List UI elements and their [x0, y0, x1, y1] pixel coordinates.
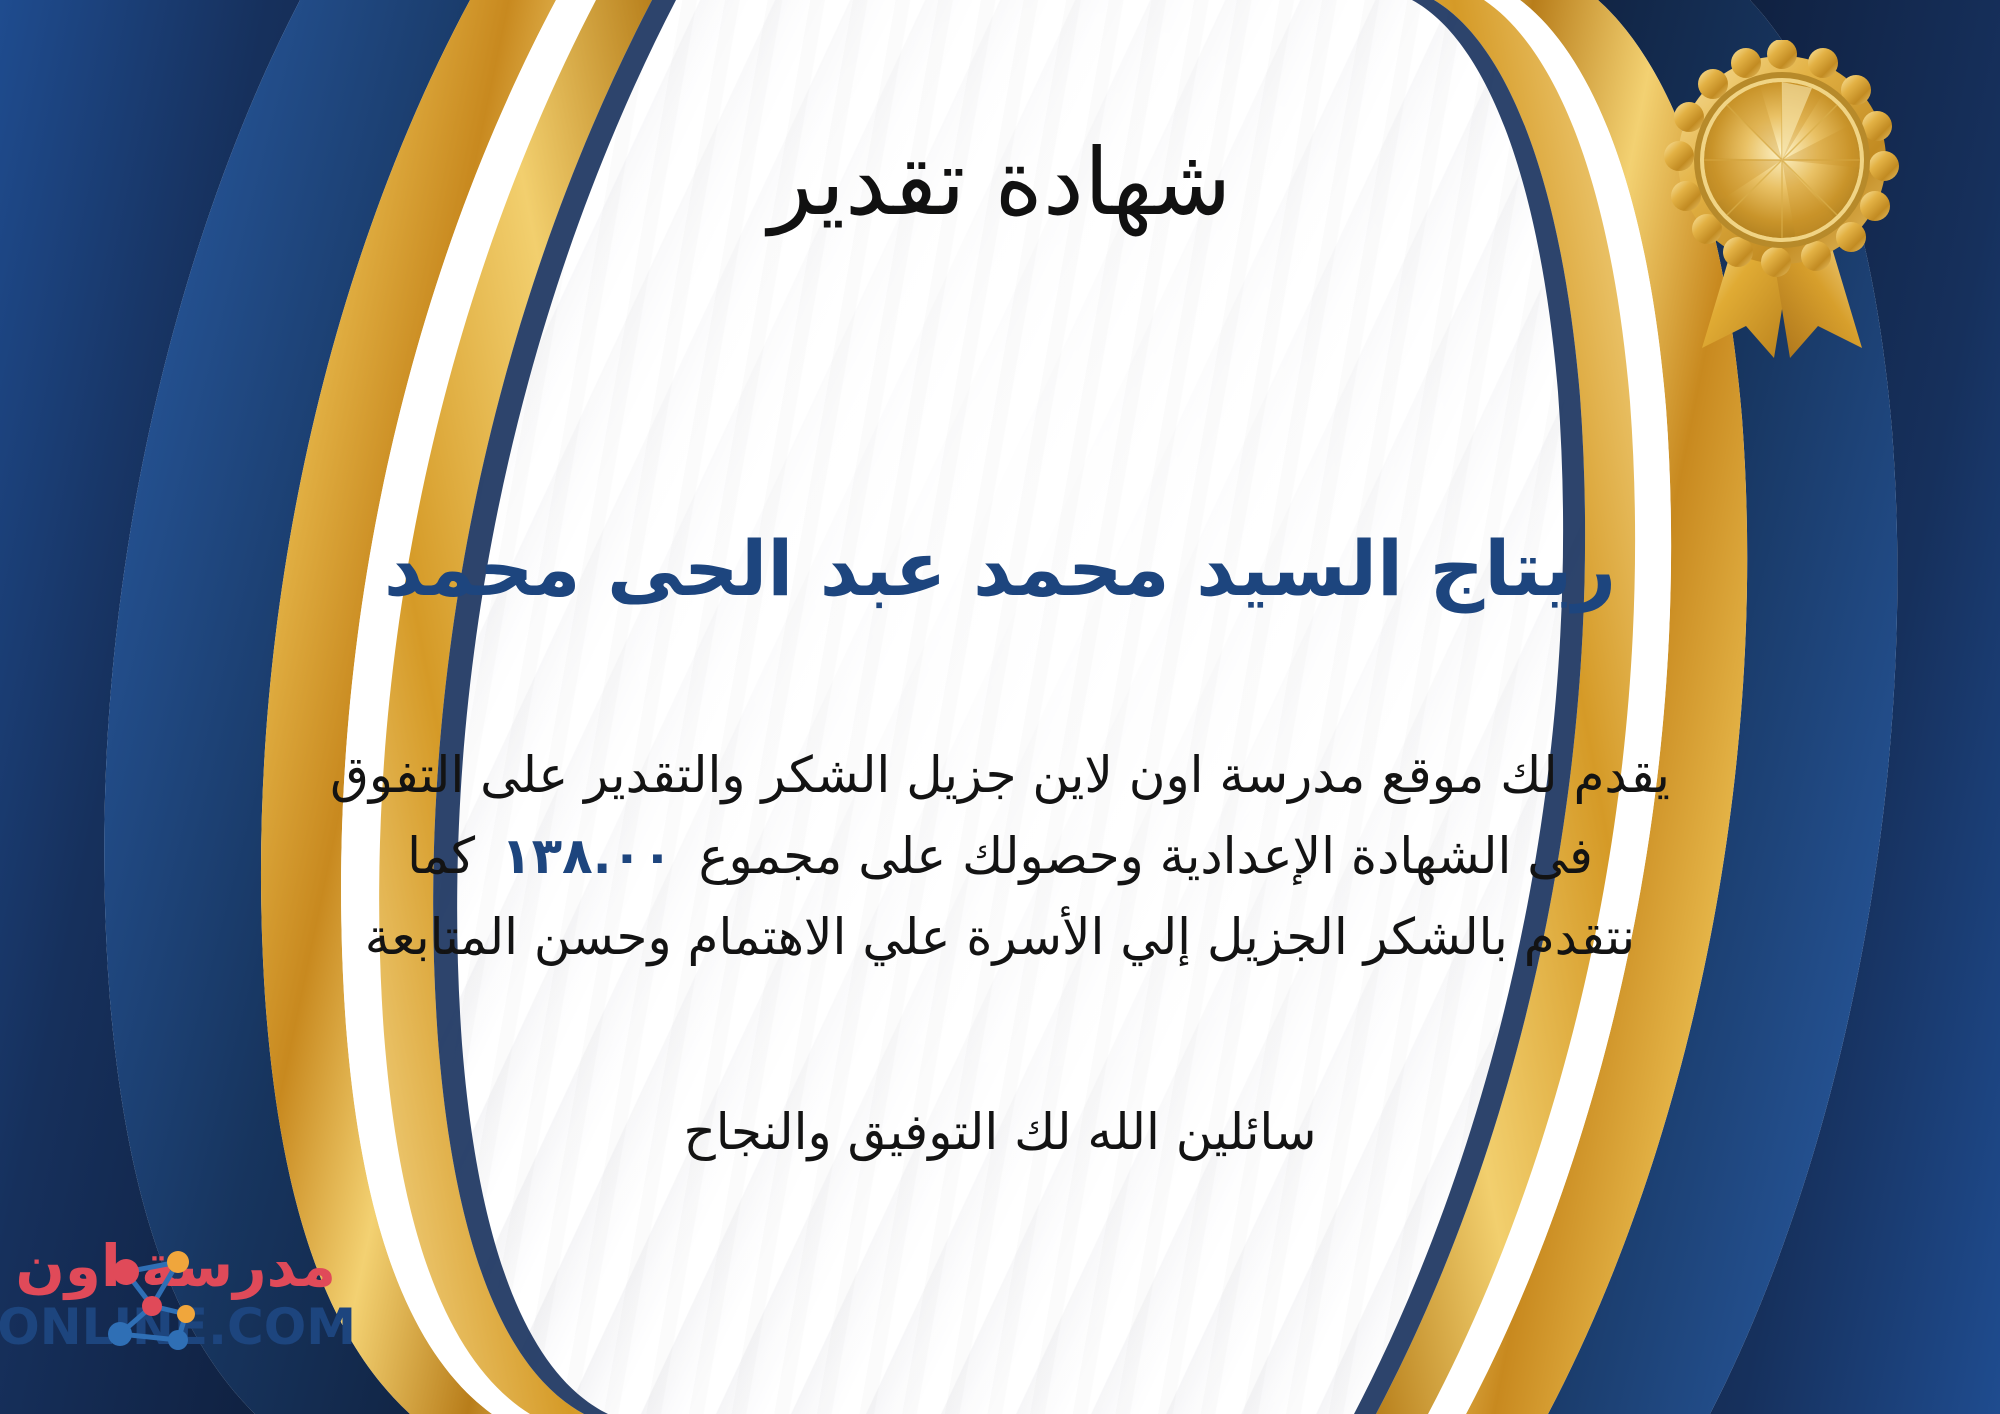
certificate-content: شهادة تقدير ريتاج السيد محمد عبد الحى مح… [0, 0, 2000, 1414]
closing-line: سائلين الله لك التوفيق والنجاح [0, 1095, 2000, 1170]
body-line-3: نتقدم بالشكر الجزيل إلي الأسرة علي الاهت… [60, 897, 1940, 978]
certificate-body: يقدم لك موقع مدرسة اون لاين جزيل الشكر و… [60, 735, 1940, 978]
grade-value: ١٣٨.٠٠ [475, 827, 699, 885]
certificate-canvas: شهادة تقدير ريتاج السيد محمد عبد الحى مح… [0, 0, 2000, 1414]
body-line-2-end: كما [407, 827, 475, 885]
body-line-2-start: فى الشهادة الإعدادية وحصولك على مجموع [699, 827, 1593, 885]
site-logo[interactable]: مدرسة اون لاين MADRSA-ONLINE.COM [26, 1226, 466, 1386]
network-nodes-icon [86, 1236, 216, 1366]
student-name: ريتاج السيد محمد عبد الحى محمد [0, 525, 2000, 612]
body-line-1: يقدم لك موقع مدرسة اون لاين جزيل الشكر و… [60, 735, 1940, 816]
page-title: شهادة تقدير [0, 132, 2000, 233]
body-line-2: فى الشهادة الإعدادية وحصولك على مجموع١٣٨… [60, 816, 1940, 897]
